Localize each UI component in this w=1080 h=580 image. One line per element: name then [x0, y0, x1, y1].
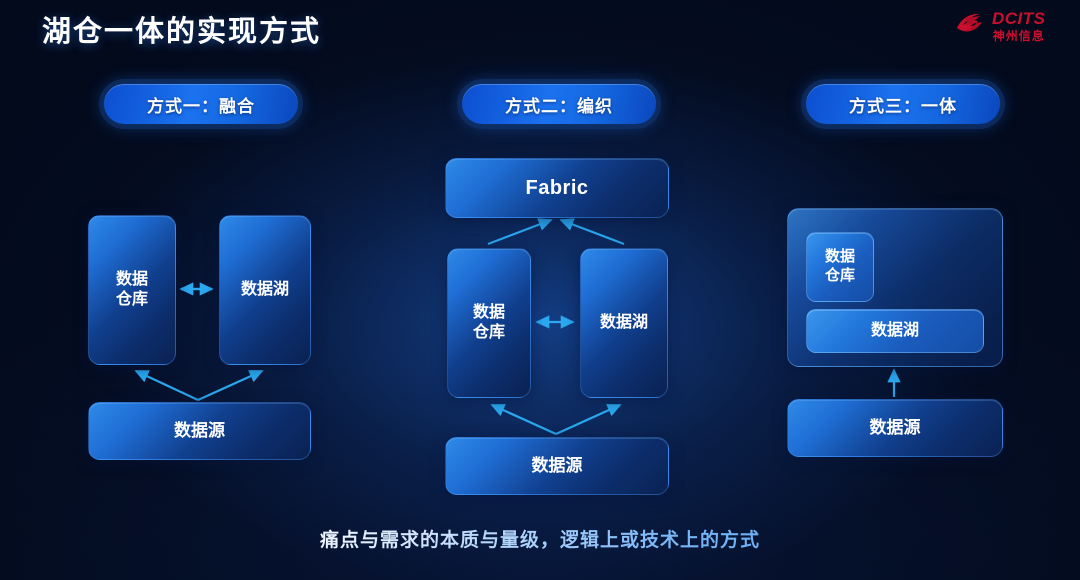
- page-title: 湖仓一体的实现方式: [42, 8, 321, 50]
- slide-canvas: 湖仓一体的实现方式 DCITS 神州信息 方式一：融合 方式二：编织 方式三：一…: [0, 0, 1080, 580]
- swoosh-z-icon: [954, 9, 988, 44]
- column-header-pill-2[interactable]: 方式二：编织: [462, 84, 656, 124]
- column-header-pill-3[interactable]: 方式三：一体: [806, 84, 1000, 124]
- box-label: 数据仓库: [473, 303, 505, 343]
- box-fabric-col2[interactable]: Fabric: [445, 158, 669, 218]
- box-data-lake-col2[interactable]: 数据湖: [580, 248, 668, 398]
- box-data-warehouse-col1[interactable]: 数据仓库: [88, 215, 176, 365]
- logo-chinese-text: 神州信息: [993, 30, 1045, 42]
- box-label: 数据湖: [600, 313, 648, 333]
- box-data-lake-col1[interactable]: 数据湖: [219, 215, 311, 365]
- box-label: 数据源: [532, 455, 583, 476]
- box-data-source-col2[interactable]: 数据源: [445, 437, 669, 495]
- column-header-pill-1[interactable]: 方式一：融合: [104, 84, 298, 124]
- box-label: 数据源: [174, 420, 225, 441]
- box-label: 数据仓库: [116, 270, 148, 310]
- box-data-source-col1[interactable]: 数据源: [88, 402, 311, 460]
- box-label: 数据湖: [871, 321, 919, 341]
- brand-logo: DCITS 神州信息: [954, 6, 1066, 46]
- box-label: 数据湖: [241, 280, 289, 300]
- box-label: Fabric: [525, 176, 588, 201]
- box-data-source-col3[interactable]: 数据源: [787, 399, 1003, 457]
- box-label: 数据仓库: [825, 248, 855, 286]
- box-data-warehouse-col2[interactable]: 数据仓库: [447, 248, 531, 398]
- box-data-warehouse-col3[interactable]: 数据仓库: [806, 232, 874, 302]
- box-data-lake-col3[interactable]: 数据湖: [806, 309, 984, 353]
- footer-note: 痛点与需求的本质与量级，逻辑上或技术上的方式: [0, 525, 1080, 552]
- logo-english-text: DCITS: [992, 10, 1046, 27]
- box-label: 数据源: [870, 417, 921, 438]
